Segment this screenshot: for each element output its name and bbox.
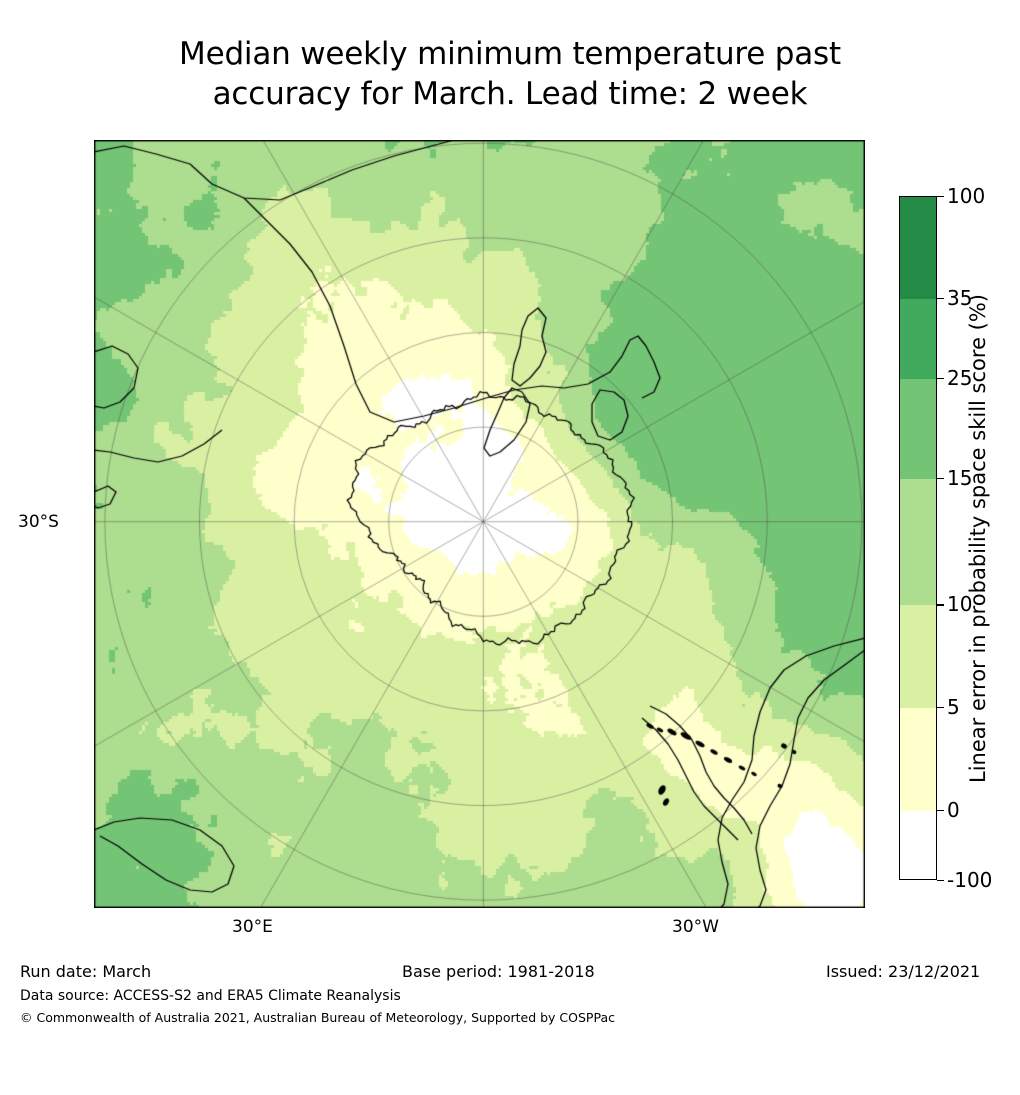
skill-score-heatmap: [94, 140, 865, 908]
footer-copyright: © Commonwealth of Australia 2021, Austra…: [20, 1010, 615, 1025]
footer-data-source: Data source: ACCESS-S2 and ERA5 Climate …: [20, 988, 401, 1004]
colorbar-tick-5: [937, 707, 944, 708]
colorbar-tick-6: [937, 810, 944, 811]
colorbar-tick-0: [937, 196, 944, 197]
axis-label-longitude-30e: 30°E: [232, 917, 273, 937]
page-title: Median weekly minimum temperature past a…: [0, 34, 1020, 114]
axis-label-longitude-30w: 30°W: [672, 917, 719, 937]
colorbar-band-0: [900, 197, 936, 299]
colorbar-band-6: [900, 811, 936, 880]
colorbar-tick-1: [937, 298, 944, 299]
axis-label-latitude-30s: 30°S: [18, 512, 59, 532]
colorbar-band-3: [900, 479, 936, 606]
colorbar-band-2: [900, 379, 936, 479]
footer-primary-row: Run date: March Base period: 1981-2018 I…: [0, 955, 1020, 979]
colorbar-tick-7: [937, 880, 944, 881]
colorbar-band-4: [900, 605, 936, 708]
colorbar-tick-4: [937, 604, 944, 605]
title-line-1: Median weekly minimum temperature past: [0, 34, 1020, 74]
colorbar-tick-2: [937, 378, 944, 379]
colorbar-axis-label-text: Linear error in probability space skill …: [966, 294, 990, 783]
footer-run-date: Run date: March: [20, 962, 151, 981]
colorbar-tick-3: [937, 478, 944, 479]
footer-issued-date: Issued: 23/12/2021: [826, 962, 980, 981]
colorbar-axis-label: Linear error in probability space skill …: [958, 196, 998, 880]
colorbar-band-1: [900, 299, 936, 379]
colorbar-band-5: [900, 708, 936, 811]
colorbar: 1003525151050-100: [899, 196, 937, 880]
colorbar-gradient: [899, 196, 937, 880]
footer-base-period: Base period: 1981-2018: [402, 962, 595, 981]
title-line-2: accuracy for March. Lead time: 2 week: [0, 74, 1020, 114]
map-plot-area: [94, 140, 865, 908]
